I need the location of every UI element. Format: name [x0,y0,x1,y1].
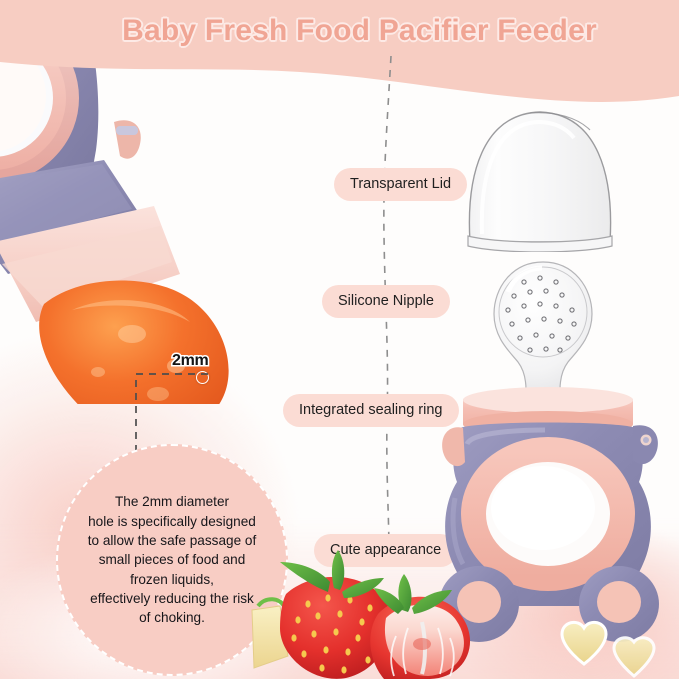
product-part-transparent-lid [460,84,620,252]
page-title: Baby Fresh Food Pacifier Feeder [0,14,679,48]
label-transparent-lid[interactable]: Transparent Lid [334,168,467,201]
label-silicone-nipple[interactable]: Silicone Nipple [322,285,450,318]
heart-fruit-image [540,596,679,679]
label-integrated-sealing-ring[interactable]: Integrated sealing ring [283,394,459,427]
strawberry-image [250,548,540,679]
infographic-canvas: Baby Fresh Food Pacifier Feeder Transpar… [0,0,679,679]
product-part-silicone-nipple [488,258,598,394]
info-circle-text: The 2mm diameter hole is specifically de… [68,492,276,627]
